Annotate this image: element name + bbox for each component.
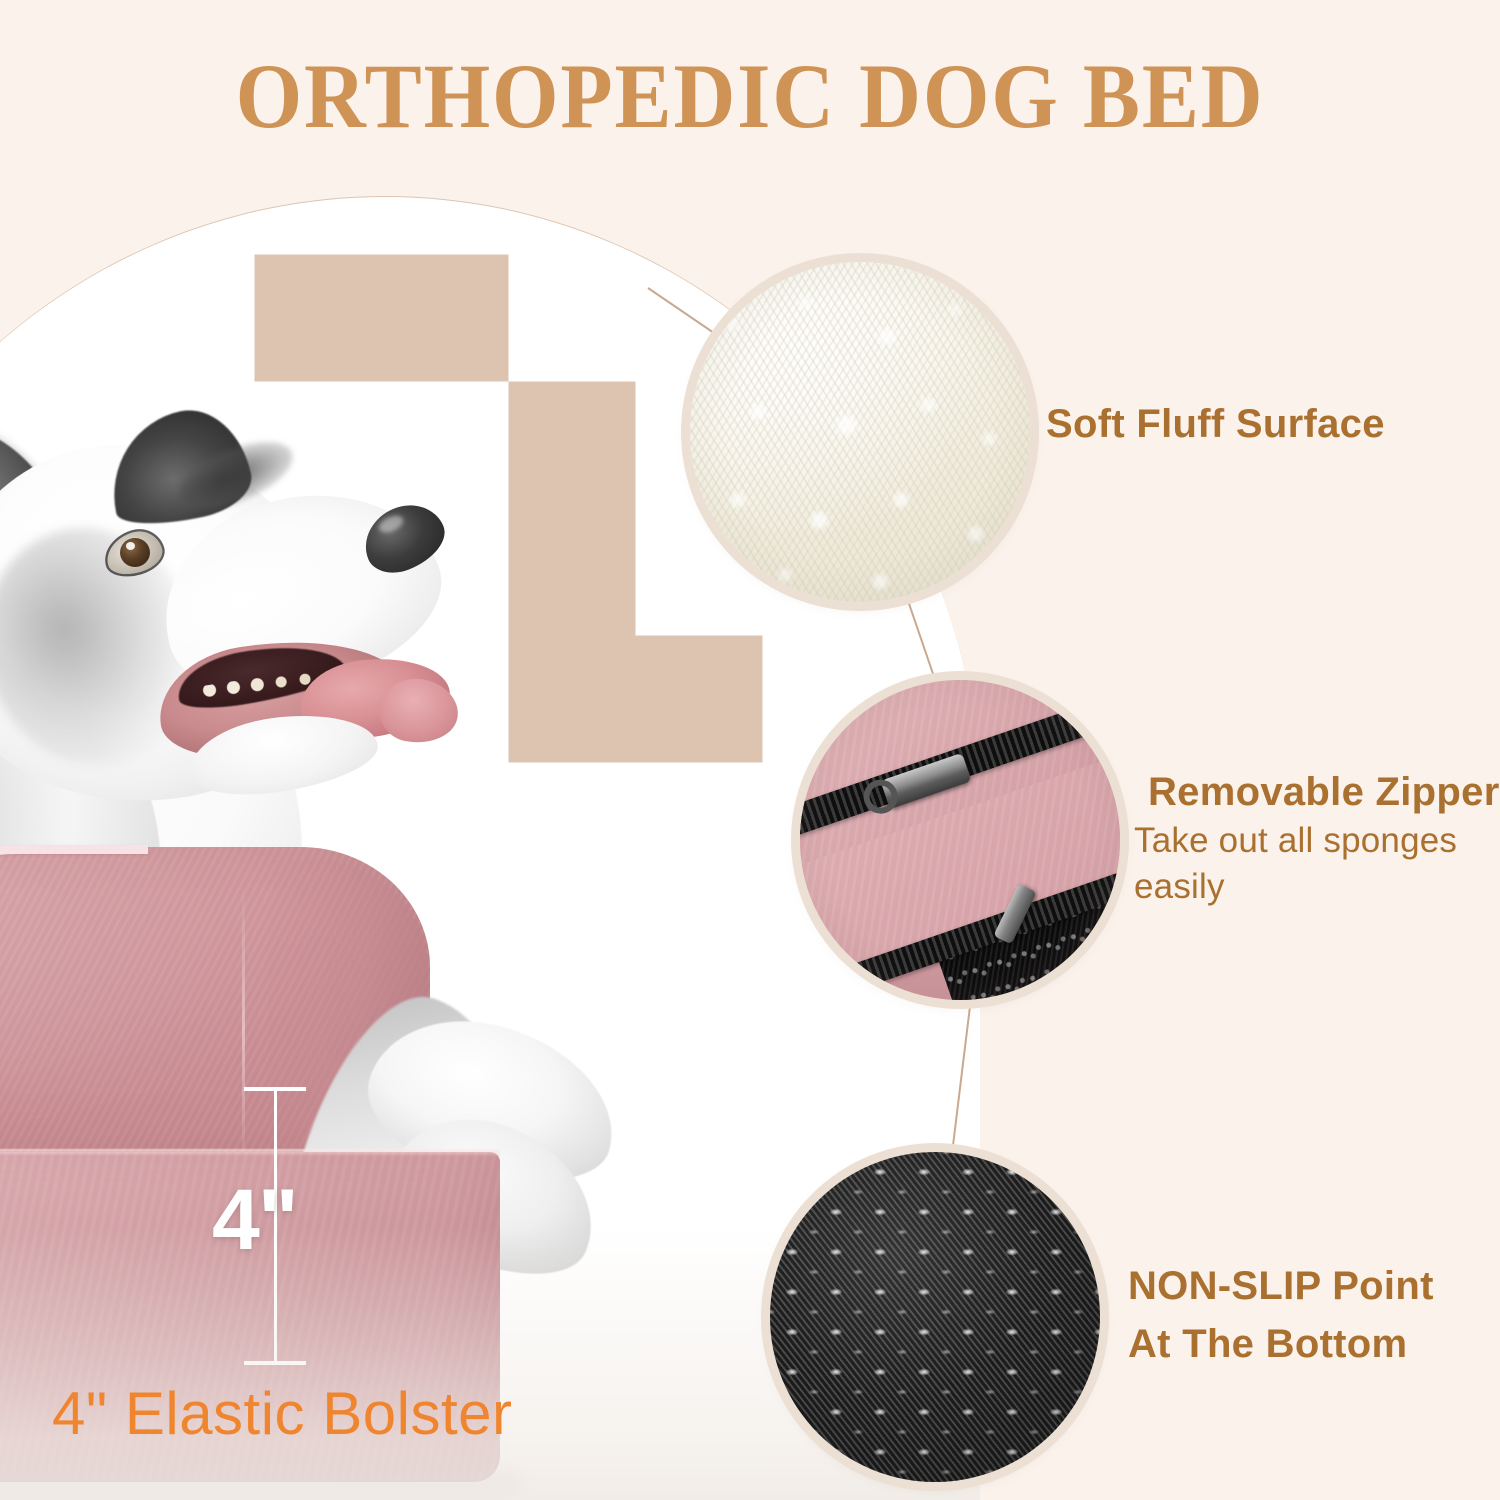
bolster-caption: 4" Elastic Bolster [52, 1382, 512, 1446]
page-title: ORTHOPEDIC DOG BED [53, 48, 1448, 144]
callout-zipper-swatch[interactable] [800, 680, 1120, 1000]
callout-subtitle-removable-zipper: Take out all sponges easily [1134, 818, 1484, 910]
zipper-vignette [800, 680, 1120, 1000]
bed-piping-trim [0, 845, 148, 1175]
callout-soft-fluff-swatch[interactable] [690, 262, 1030, 602]
infographic-canvas: ORTHOPEDIC DOG BED [0, 0, 1500, 1500]
callout-label-soft-fluff: Soft Fluff Surface [1046, 400, 1385, 448]
callout-label-non-slip-line2: At The Bottom [1128, 1320, 1407, 1368]
non-slip-vignette [770, 1152, 1100, 1482]
callout-non-slip-swatch[interactable] [770, 1152, 1100, 1482]
fluff-vignette [690, 262, 1030, 602]
callout-label-removable-zipper: Removable Zipper [1148, 768, 1500, 816]
callout-label-non-slip-line1: NON-SLIP Point [1128, 1262, 1434, 1310]
